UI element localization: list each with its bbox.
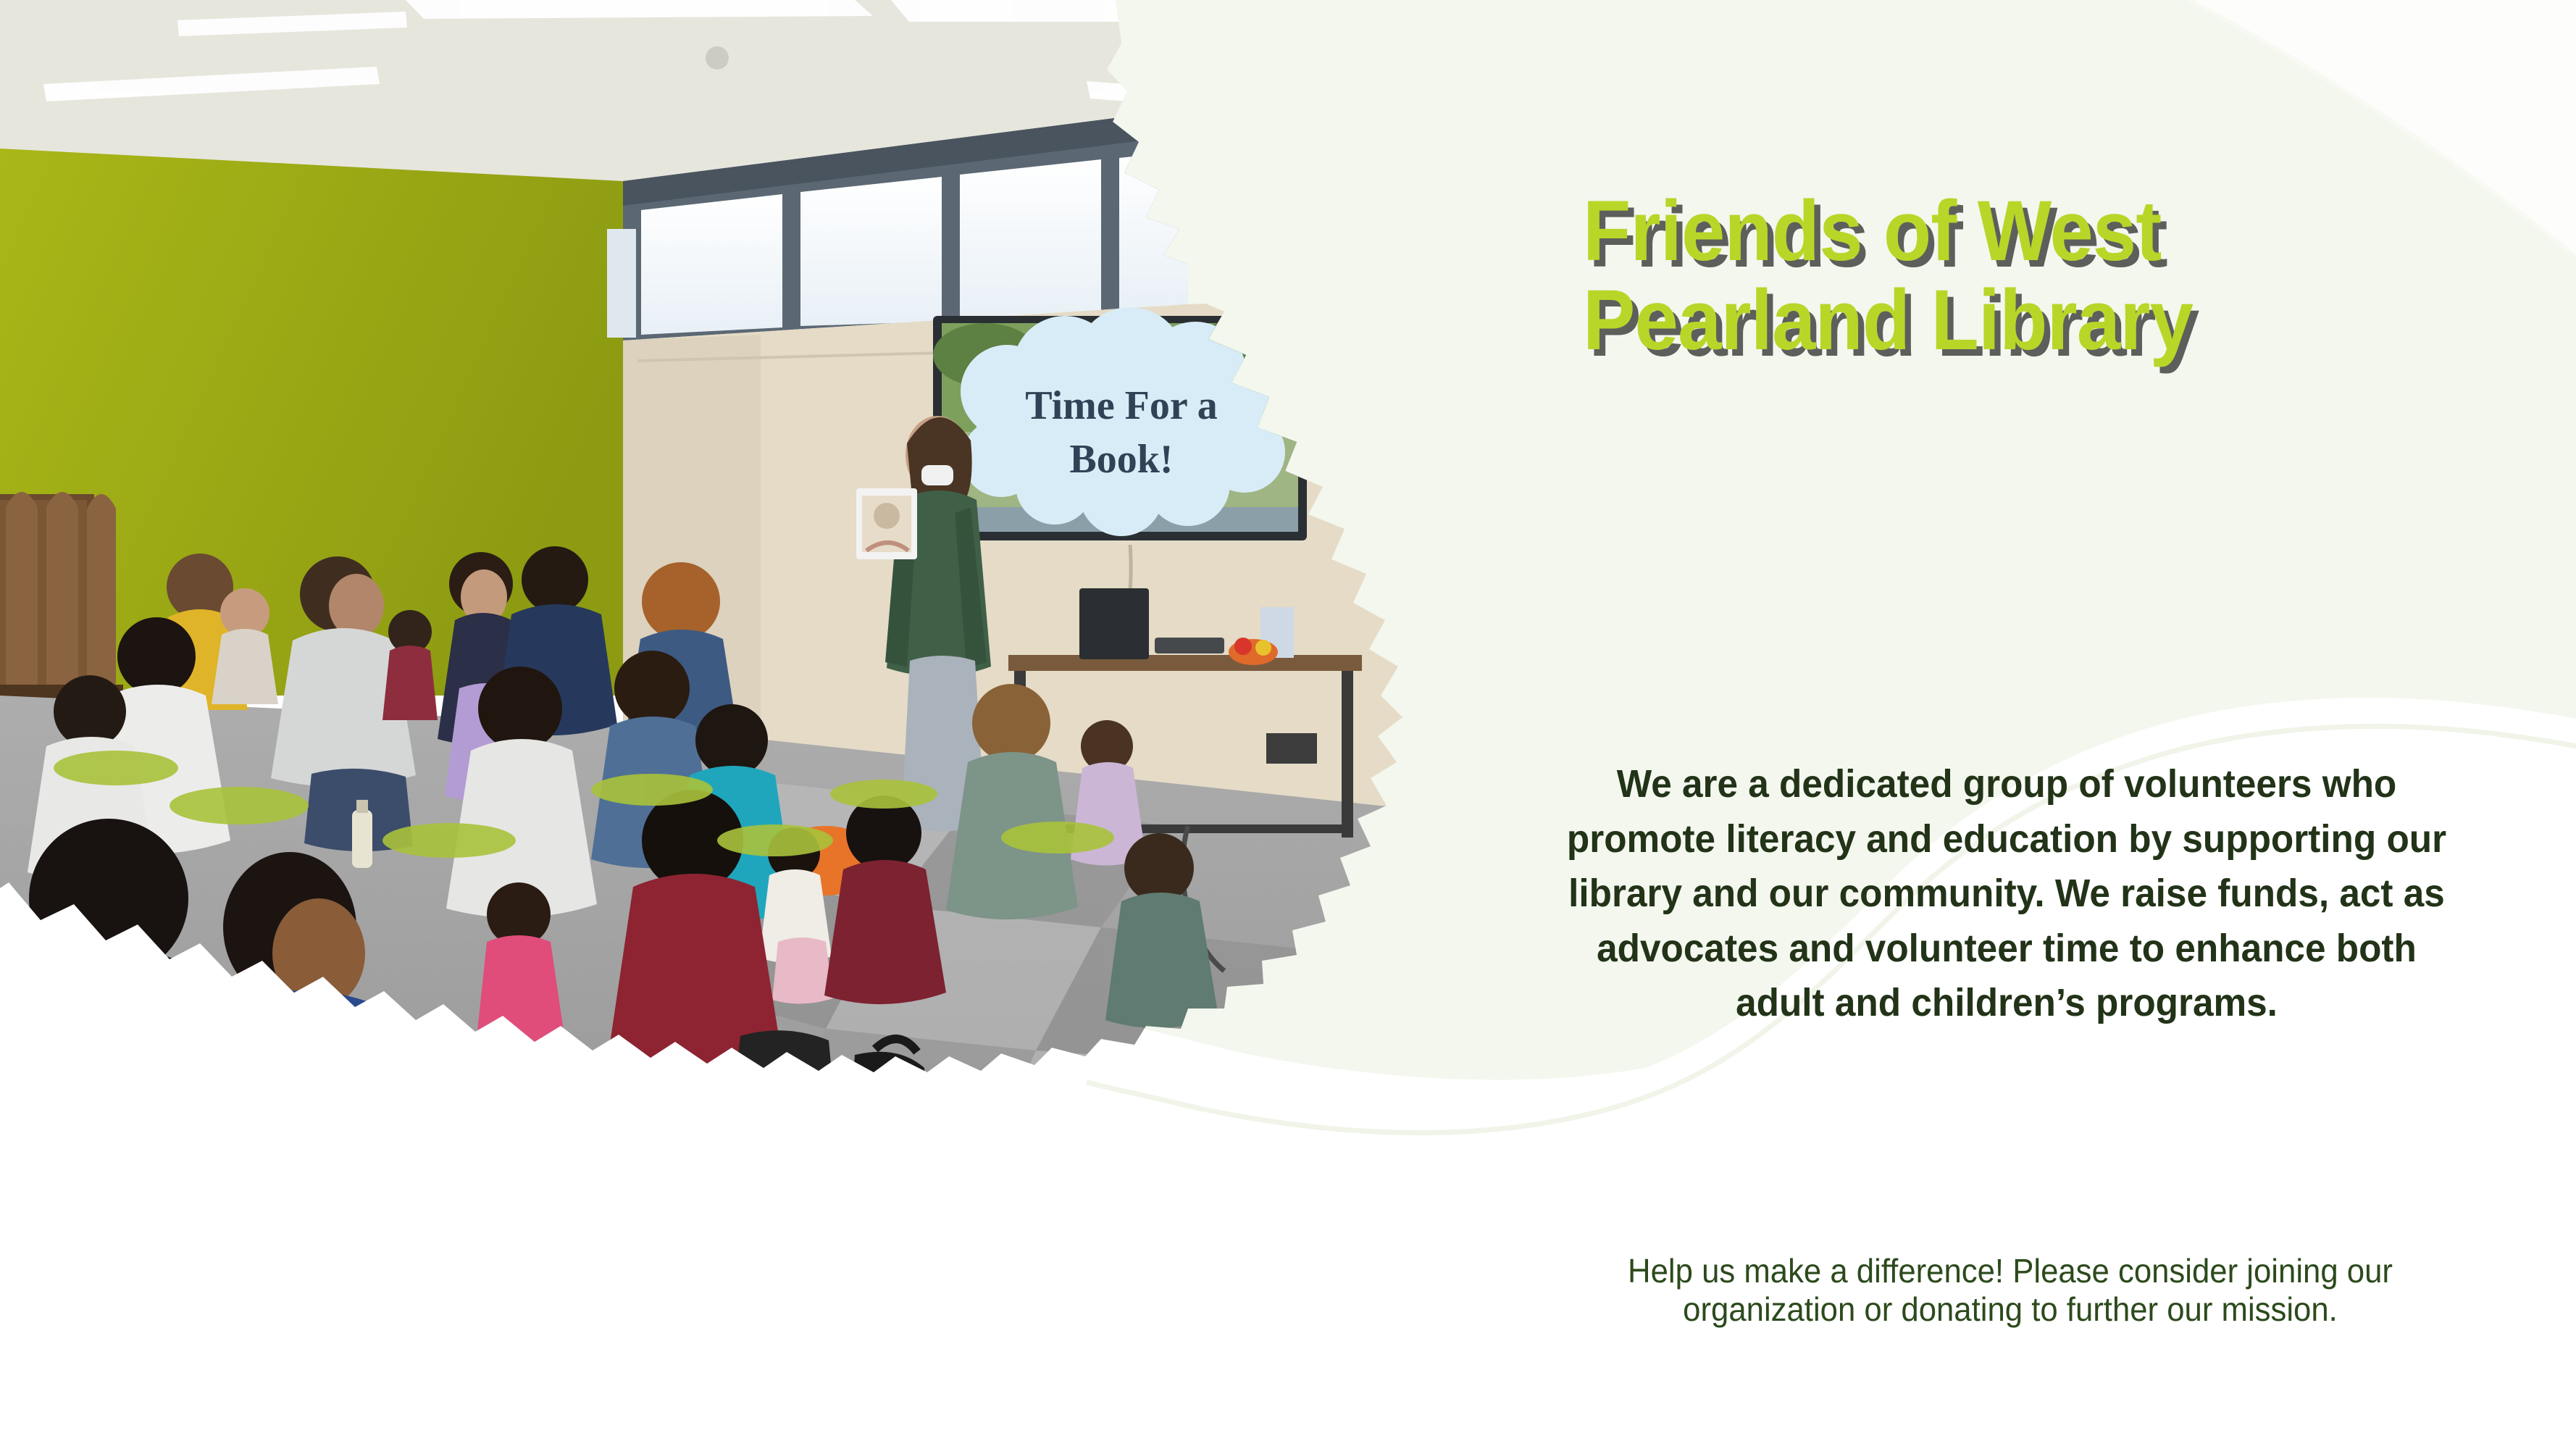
slide-canvas: Time For a Book! xyxy=(0,0,2576,1449)
text-layer: Friends of West Pearland Library We are … xyxy=(0,0,2576,1449)
mission-paragraph: We are a dedicated group of volunteers w… xyxy=(1560,757,2454,1031)
page-title: Friends of West Pearland Library xyxy=(1583,187,2370,364)
call-to-action-text: Help us make a difference! Please consid… xyxy=(1566,1252,2454,1329)
